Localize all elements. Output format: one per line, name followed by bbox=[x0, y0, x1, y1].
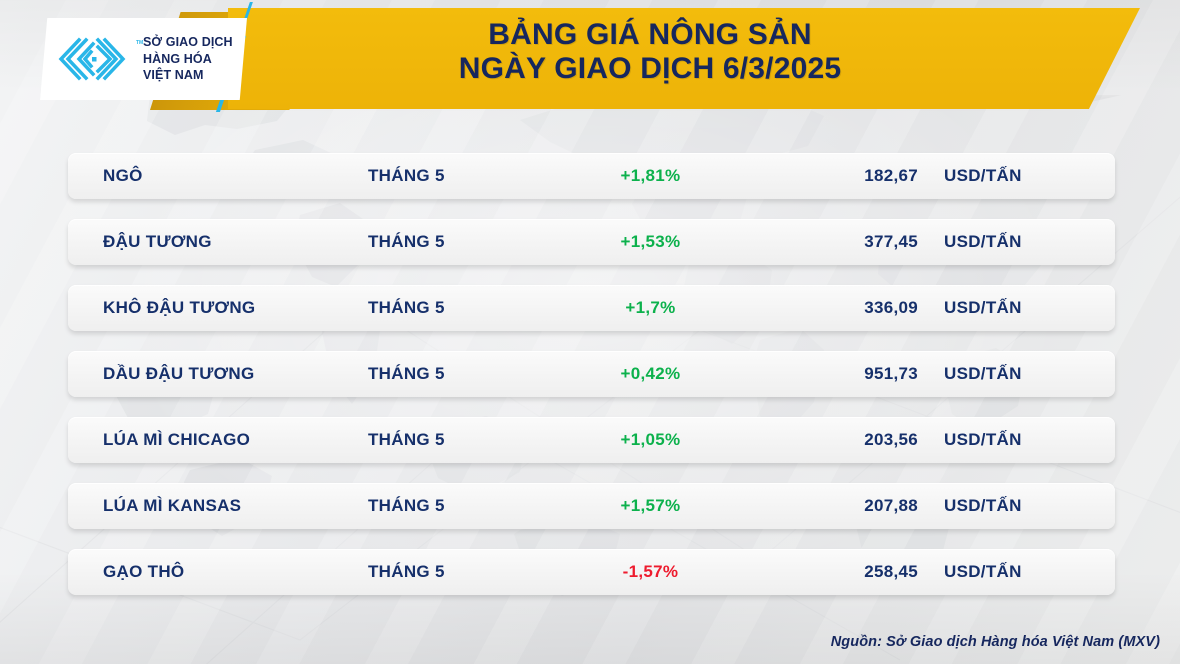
commodity-name: GẠO THÔ bbox=[68, 562, 368, 582]
brand-logo-card: TM SỞ GIAO DỊCH HÀNG HÓA VIỆT NAM bbox=[40, 18, 247, 100]
title-line-1: BẢNG GIÁ NÔNG SẢN bbox=[240, 18, 1060, 52]
brand-name-line-3: VIỆT NAM bbox=[143, 67, 233, 84]
price-board-poster: BẢNG GIÁ NÔNG SẢN NGÀY GIAO DỊCH 6/3/202… bbox=[0, 0, 1180, 664]
commodity-name: NGÔ bbox=[68, 166, 368, 186]
contract-month: THÁNG 5 bbox=[368, 298, 543, 318]
price-value: 951,73 bbox=[758, 364, 918, 384]
contract-month: THÁNG 5 bbox=[368, 232, 543, 252]
price-unit: USD/TẤN bbox=[918, 430, 1078, 450]
price-unit: USD/TẤN bbox=[918, 298, 1078, 318]
header: BẢNG GIÁ NÔNG SẢN NGÀY GIAO DỊCH 6/3/202… bbox=[0, 0, 1180, 118]
table-row[interactable]: LÚA MÌ KANSASTHÁNG 5+1,57%207,88USD/TẤN bbox=[68, 483, 1115, 529]
contract-month: THÁNG 5 bbox=[368, 496, 543, 516]
price-unit: USD/TẤN bbox=[918, 166, 1078, 186]
price-value: 377,45 bbox=[758, 232, 918, 252]
price-value: 182,67 bbox=[758, 166, 918, 186]
price-unit: USD/TẤN bbox=[918, 496, 1078, 516]
table-row[interactable]: NGÔTHÁNG 5+1,81%182,67USD/TẤN bbox=[68, 153, 1115, 199]
price-value: 207,88 bbox=[758, 496, 918, 516]
source-attribution: Nguồn: Sở Giao dịch Hàng hóa Việt Nam (M… bbox=[831, 634, 1160, 650]
commodity-name: LÚA MÌ CHICAGO bbox=[68, 430, 368, 450]
price-table: NGÔTHÁNG 5+1,81%182,67USD/TẤNĐẬU TƯƠNGTH… bbox=[68, 153, 1115, 615]
change-percent: +1,57% bbox=[543, 496, 758, 516]
price-unit: USD/TẤN bbox=[918, 562, 1078, 582]
change-percent: +1,05% bbox=[543, 430, 758, 450]
change-percent: +1,7% bbox=[543, 298, 758, 318]
price-value: 336,09 bbox=[758, 298, 918, 318]
change-percent: +1,81% bbox=[543, 166, 758, 186]
title-line-2: NGÀY GIAO DỊCH 6/3/2025 bbox=[240, 52, 1060, 86]
commodity-name: ĐẬU TƯƠNG bbox=[68, 232, 368, 252]
table-row[interactable]: LÚA MÌ CHICAGOTHÁNG 5+1,05%203,56USD/TẤN bbox=[68, 417, 1115, 463]
contract-month: THÁNG 5 bbox=[368, 562, 543, 582]
price-value: 258,45 bbox=[758, 562, 918, 582]
mxv-maze-logo-icon bbox=[56, 37, 134, 81]
price-unit: USD/TẤN bbox=[918, 364, 1078, 384]
brand-name-line-1: SỞ GIAO DỊCH bbox=[143, 34, 233, 51]
brand-name-line-2: HÀNG HÓA bbox=[143, 51, 233, 68]
commodity-name: LÚA MÌ KANSAS bbox=[68, 496, 368, 516]
brand-name: SỞ GIAO DỊCH HÀNG HÓA VIỆT NAM bbox=[143, 34, 233, 84]
change-percent: +1,53% bbox=[543, 232, 758, 252]
table-row[interactable]: ĐẬU TƯƠNGTHÁNG 5+1,53%377,45USD/TẤN bbox=[68, 219, 1115, 265]
table-row[interactable]: GẠO THÔTHÁNG 5-1,57%258,45USD/TẤN bbox=[68, 549, 1115, 595]
table-row[interactable]: DẦU ĐẬU TƯƠNGTHÁNG 5+0,42%951,73USD/TẤN bbox=[68, 351, 1115, 397]
page-title: BẢNG GIÁ NÔNG SẢN NGÀY GIAO DỊCH 6/3/202… bbox=[240, 18, 1060, 85]
table-row[interactable]: KHÔ ĐẬU TƯƠNGTHÁNG 5+1,7%336,09USD/TẤN bbox=[68, 285, 1115, 331]
price-unit: USD/TẤN bbox=[918, 232, 1078, 252]
change-percent: -1,57% bbox=[543, 562, 758, 582]
commodity-name: KHÔ ĐẬU TƯƠNG bbox=[68, 298, 368, 318]
price-value: 203,56 bbox=[758, 430, 918, 450]
contract-month: THÁNG 5 bbox=[368, 364, 543, 384]
contract-month: THÁNG 5 bbox=[368, 430, 543, 450]
commodity-name: DẦU ĐẬU TƯƠNG bbox=[68, 364, 368, 384]
contract-month: THÁNG 5 bbox=[368, 166, 543, 186]
change-percent: +0,42% bbox=[543, 364, 758, 384]
